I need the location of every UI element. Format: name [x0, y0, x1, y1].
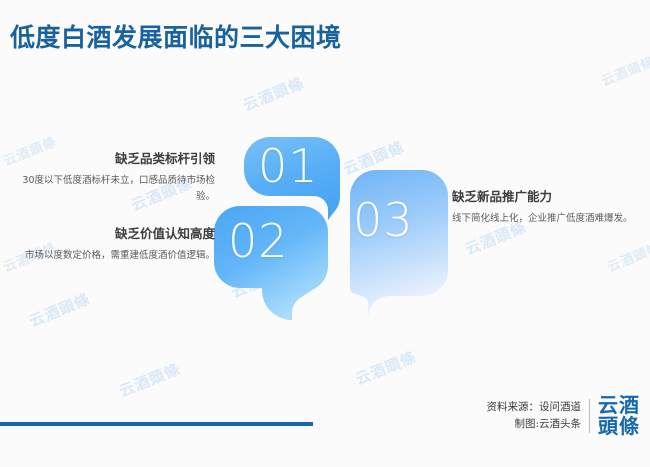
footer-rule	[0, 422, 313, 426]
watermark-text: 云酒頭條	[352, 346, 419, 389]
page-title: 低度白酒发展面临的三大困境	[10, 18, 342, 54]
watermark-text: 云酒頭條	[26, 288, 93, 331]
brand-logo-line1: 云酒	[598, 395, 640, 416]
footer-chart-line: 制图:云酒头条	[487, 416, 582, 433]
brand-logo: 云酒 頭條	[590, 395, 640, 437]
bubble-number-02: 02	[228, 218, 289, 264]
watermark-text: 云酒頭條	[116, 358, 183, 401]
item-text-block-01: 缺乏品类标杆引领 30度以下低度酒标杆未立，口感品质待市场检验。	[10, 150, 215, 205]
item-body-03: 线下简化线上化，企业推广低度酒难爆发。	[452, 211, 642, 227]
brand-logo-line2: 頭條	[598, 416, 640, 437]
watermark-text: 云酒頭條	[240, 72, 307, 115]
watermark-text: 云酒頭條	[604, 237, 650, 276]
bubble-number-01: 01	[258, 143, 319, 189]
item-body-02: 市场以度数定价格，需重建低度酒价值逻辑。	[10, 248, 215, 264]
item-text-block-02: 缺乏价值认知高度 市场以度数定价格，需重建低度酒价值逻辑。	[10, 225, 215, 264]
footer-source: 资料来源：设问酒道 制图:云酒头条	[487, 399, 591, 434]
item-heading-03: 缺乏新品推广能力	[452, 188, 642, 207]
item-heading-01: 缺乏品类标杆引领	[10, 150, 215, 169]
item-text-block-03: 缺乏新品推广能力 线下简化线上化，企业推广低度酒难爆发。	[452, 188, 642, 227]
footer-source-line: 资料来源：设问酒道	[487, 399, 582, 416]
infographic-canvas: 云酒頭條 云酒頭條 云酒頭條 云酒頭條 云酒頭條 云酒頭條 云酒頭條 云酒頭條 …	[0, 0, 650, 467]
item-heading-02: 缺乏价值认知高度	[10, 225, 215, 244]
bubble-number-03: 03	[353, 197, 414, 243]
watermark-text: 云酒頭條	[598, 51, 650, 90]
item-body-01: 30度以下低度酒标杆未立，口感品质待市场检验。	[10, 173, 215, 206]
watermark-text: 云酒頭條	[340, 136, 407, 179]
footer: 资料来源：设问酒道 制图:云酒头条 云酒 頭條	[487, 395, 641, 437]
